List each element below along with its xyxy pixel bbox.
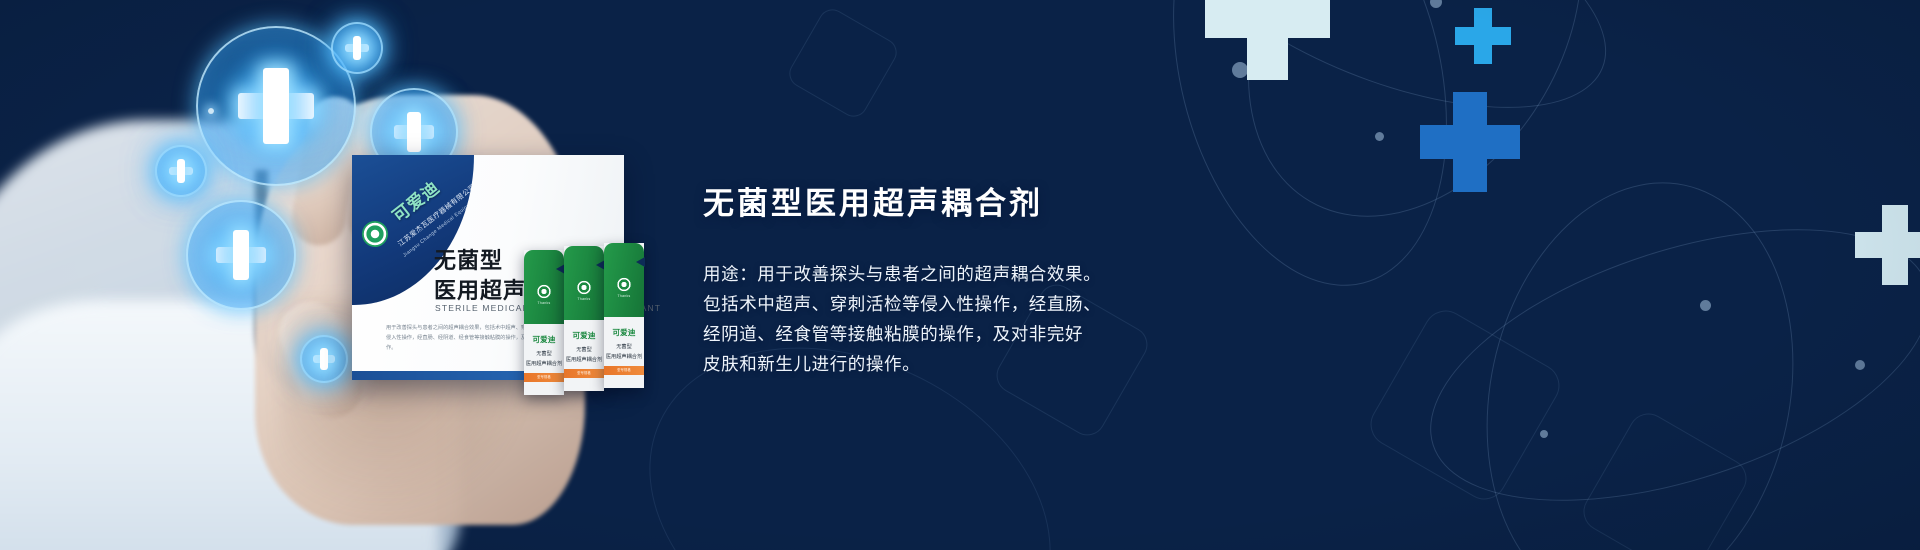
description-line-2: 包括术中超声、穿刺活检等侵入性操作，经直肠、 xyxy=(703,289,1343,319)
sachet-item: Thanks 可爱迪 无菌型 医用超声耦合剂 型号规格 xyxy=(564,246,604,391)
sachet-strip-text: 型号规格 xyxy=(524,373,564,382)
sachet-logo-icon xyxy=(537,284,552,299)
neon-cross-circle-lower-left xyxy=(186,200,296,310)
description-line-3: 经阴道、经食管等接触粘膜的操作，及对非完好 xyxy=(703,319,1343,349)
neon-cross-circle-mid-left xyxy=(155,145,207,197)
sachet-tear-notch-icon xyxy=(636,257,645,267)
sachet-logo-icon xyxy=(617,277,632,292)
sachet-item: Thanks 可爱迪 无菌型 医用超声耦合剂 型号规格 xyxy=(524,250,564,395)
sachet-line1: 无菌型 xyxy=(564,346,604,353)
sachet-strip-text: 型号规格 xyxy=(604,366,644,375)
sachet-tagline: Thanks xyxy=(564,297,604,301)
sachet-top-green: Thanks xyxy=(604,243,644,317)
sachet-item: Thanks 可爱迪 无菌型 医用超声耦合剂 型号规格 xyxy=(604,243,644,388)
company-logo-icon xyxy=(357,216,393,252)
sachet-top-green: Thanks xyxy=(564,246,604,320)
product-banner: 可爱迪 江苏爱杰瓦医疗器械有限公司 Jiangsu Change Medical… xyxy=(0,0,1920,550)
sachet-line2: 医用超声耦合剂 xyxy=(564,356,604,363)
sachet-orange-strip: 型号规格 xyxy=(604,366,644,375)
description-line-1: 用途：用于改善探头与患者之间的超声耦合效果。 xyxy=(703,259,1343,289)
sachet-brand: 可爱迪 xyxy=(524,334,564,345)
banner-description: 用途：用于改善探头与患者之间的超声耦合效果。 包括术中超声、穿刺活检等侵入性操作… xyxy=(703,259,1343,379)
neon-cross-circle-bottom xyxy=(300,335,348,383)
banner-copy: 无菌型医用超声耦合剂 用途：用于改善探头与患者之间的超声耦合效果。 包括术中超声… xyxy=(703,178,1343,379)
sachet-line1: 无菌型 xyxy=(604,343,644,350)
box-title-line1: 无菌型 xyxy=(434,243,503,275)
neon-cross-circle-top-right xyxy=(331,22,383,74)
sachet-logo-icon xyxy=(577,280,592,295)
description-line-4: 皮肤和新生儿进行的操作。 xyxy=(703,349,1343,379)
sachet-top-green: Thanks xyxy=(524,250,564,324)
sachet-brand: 可爱迪 xyxy=(604,327,644,338)
sachet-orange-strip: 型号规格 xyxy=(524,373,564,382)
sachet-group: Thanks 可爱迪 无菌型 医用超声耦合剂 型号规格 Thanks 可爱迪 无… xyxy=(524,243,674,395)
sachet-brand: 可爱迪 xyxy=(564,330,604,341)
sachet-line1: 无菌型 xyxy=(524,350,564,357)
sachet-tagline: Thanks xyxy=(604,294,644,298)
sachet-orange-strip: 型号规格 xyxy=(564,369,604,378)
sachet-strip-text: 型号规格 xyxy=(564,369,604,378)
light-spark-1 xyxy=(208,108,214,114)
sachet-line2: 医用超声耦合剂 xyxy=(604,353,644,360)
sachet-tagline: Thanks xyxy=(524,301,564,305)
sachet-line2: 医用超声耦合剂 xyxy=(524,360,564,367)
banner-headline: 无菌型医用超声耦合剂 xyxy=(703,178,1343,223)
